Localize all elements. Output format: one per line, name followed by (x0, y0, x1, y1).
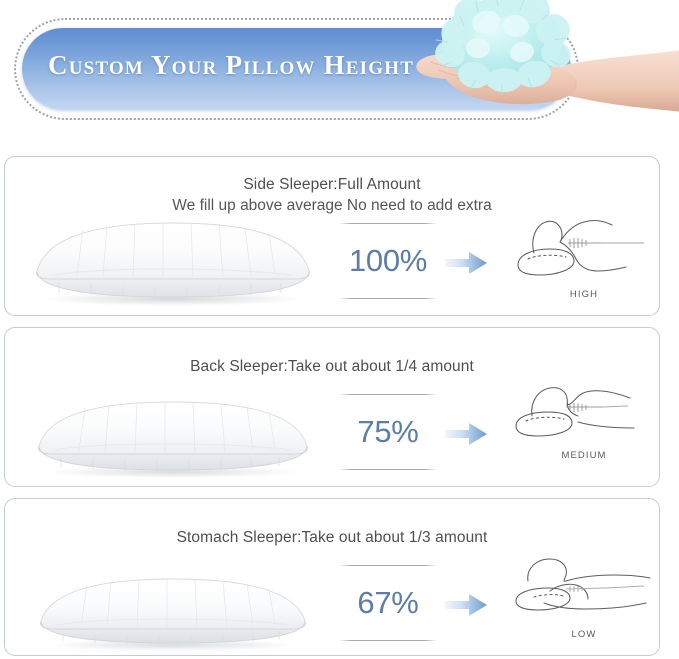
pillow-height-card-side-sleeper: Side Sleeper:Full Amount We fill up abov… (4, 156, 660, 316)
percent-rule-bottom (339, 298, 437, 299)
arrow-right-icon (445, 593, 487, 617)
card-heading: Side Sleeper:Full Amount (5, 174, 659, 195)
percent-value: 100% (339, 237, 437, 285)
pillow-full-icon (23, 213, 323, 311)
stomach-sleeper-posture-icon (510, 551, 658, 627)
percent-block: 75% (339, 394, 437, 470)
header-banner: Custom Your Pillow Height (0, 0, 679, 148)
side-sleeper-posture-icon (510, 209, 658, 285)
arrow-right-icon (445, 251, 487, 275)
percent-rule-top (339, 223, 437, 224)
percent-rule-bottom (339, 469, 437, 470)
percent-rule-top (339, 565, 437, 566)
card-heading: Stomach Sleeper:Take out about 1/3 amoun… (5, 527, 659, 548)
percent-value: 75% (339, 408, 437, 456)
posture-label: HIGH (510, 289, 658, 300)
back-sleeper-posture-icon (510, 380, 658, 456)
percent-rule-top (339, 394, 437, 395)
posture-label: MEDIUM (510, 450, 658, 461)
pillow-height-card-back-sleeper: Back Sleeper:Take out about 1/4 amount (4, 327, 660, 487)
percent-block: 67% (339, 565, 437, 641)
arrow-right-icon (445, 422, 487, 446)
pillow-height-card-stomach-sleeper: Stomach Sleeper:Take out about 1/3 amoun… (4, 498, 660, 656)
card-heading: Back Sleeper:Take out about 1/4 amount (5, 356, 659, 377)
pillow-medium-icon (23, 384, 323, 482)
percent-rule-bottom (339, 640, 437, 641)
pillow-low-icon (23, 555, 323, 653)
posture-label: LOW (510, 629, 658, 640)
hand-holding-fiber-icon (408, 0, 679, 146)
percent-value: 67% (339, 579, 437, 627)
percent-block: 100% (339, 223, 437, 299)
